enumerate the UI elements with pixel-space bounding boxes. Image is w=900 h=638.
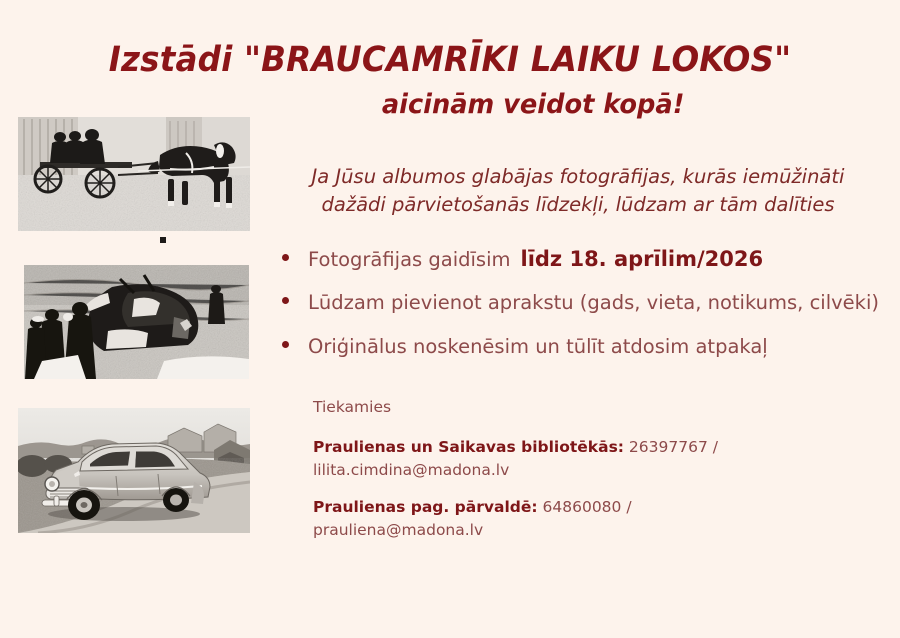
- bullet-dot-icon: [282, 254, 289, 261]
- list-item-text: Oriģinālus noskenēsim un tūlīt atdosim a…: [308, 335, 768, 358]
- vintage-car-photo: [18, 408, 250, 533]
- instructions-list: Fotogrāfijas gaidīsimlīdz 18. aprīlim/20…: [282, 247, 897, 379]
- list-item: Fotogrāfijas gaidīsimlīdz 18. aprīlim/20…: [282, 247, 897, 291]
- contact-phone: 26397767 /: [624, 438, 718, 456]
- contact-item: Praulienas un Saikavas bibliotēkās: 2639…: [313, 436, 873, 481]
- horse-cart-illustration: [18, 117, 250, 231]
- contact-email[interactable]: prauliena@madona.lv: [313, 519, 873, 541]
- list-item-text: Lūdzam pievienot aprakstu (gads, vieta, …: [308, 291, 879, 314]
- intro-line-1: Ja Jūsu albumos glabājas fotogrāfijas, k…: [268, 163, 888, 191]
- overturned-vehicle-photo: [24, 265, 249, 379]
- list-item-text: Fotogrāfijas gaidīsimlīdz 18. aprīlim/20…: [308, 247, 763, 271]
- contact-label: Praulienas pag. pārvaldē:: [313, 498, 538, 516]
- bullet-dot-icon: [282, 341, 289, 348]
- photo-corner-marker: [160, 237, 166, 243]
- overturned-vehicle-illustration: [24, 265, 249, 379]
- page-subtitle: aicinām veidot kopā!: [23, 89, 878, 120]
- intro-paragraph: Ja Jūsu albumos glabājas fotogrāfijas, k…: [268, 163, 888, 218]
- contact-item: Praulienas pag. pārvaldē: 64860080 / pra…: [313, 496, 873, 541]
- poster-canvas: Izstādi "BRAUCAMRĪKI LAIKU LOKOS" aicinā…: [0, 0, 900, 638]
- meet-label: Tiekamies: [313, 396, 873, 418]
- list-item-label: Lūdzam pievienot aprakstu (gads, vieta, …: [308, 291, 879, 314]
- vintage-car-illustration: [18, 408, 250, 533]
- page-title: Izstādi "BRAUCAMRĪKI LAIKU LOKOS": [32, 42, 869, 80]
- list-item-label: Fotogrāfijas gaidīsim: [308, 248, 511, 271]
- contact-label: Praulienas un Saikavas bibliotēkās:: [313, 438, 624, 456]
- list-item: Lūdzam pievienot aprakstu (gads, vieta, …: [282, 291, 897, 335]
- contact-section: Tiekamies Praulienas un Saikavas bibliot…: [313, 396, 873, 556]
- contact-email[interactable]: lilita.cimdina@madona.lv: [313, 459, 873, 481]
- list-item-label: Oriģinālus noskenēsim un tūlīt atdosim a…: [308, 335, 768, 358]
- list-item: Oriģinālus noskenēsim un tūlīt atdosim a…: [282, 335, 897, 379]
- deadline-badge: līdz 18. aprīlim/2026: [521, 247, 764, 271]
- title-block: Izstādi "BRAUCAMRĪKI LAIKU LOKOS" aicinā…: [0, 42, 900, 120]
- horse-cart-photo: [18, 117, 250, 231]
- bullet-dot-icon: [282, 297, 289, 304]
- intro-line-2: dažādi pārvietošanās līdzekļi, lūdzam ar…: [268, 191, 888, 219]
- contact-phone: 64860080 /: [538, 498, 632, 516]
